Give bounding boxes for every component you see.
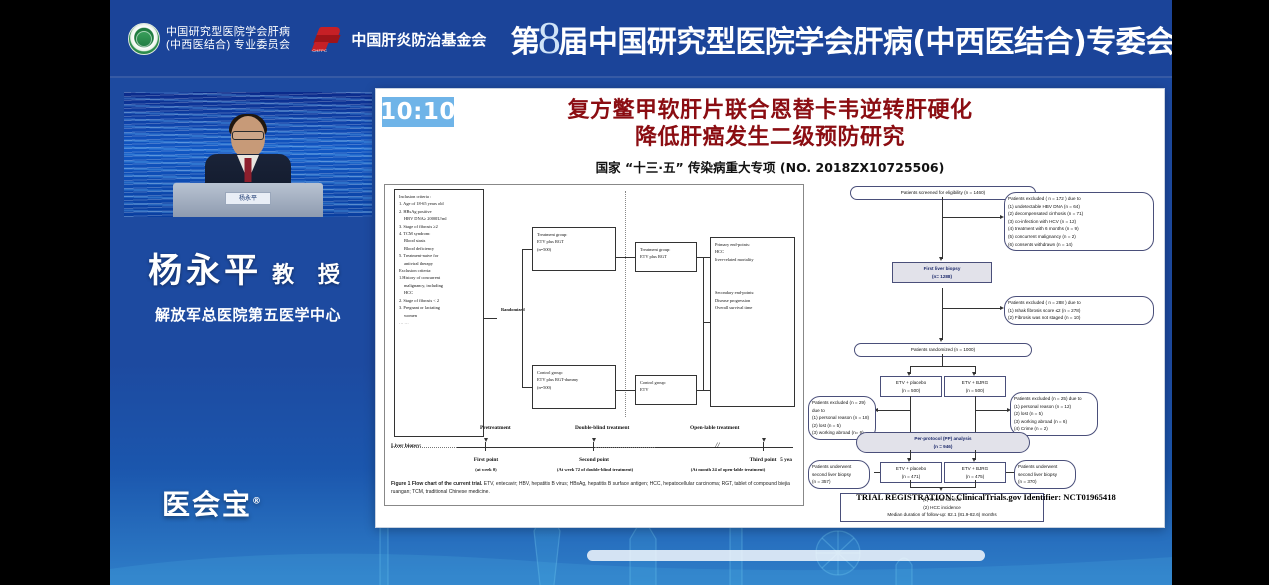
chfpc-abbr: CHFPC (312, 48, 327, 53)
exclusion-item: malignancy, including (399, 282, 479, 289)
consort-biopsy-right: Patients underwent second liver biopsy (… (1014, 460, 1076, 489)
criteria-ellipsis: …… (399, 319, 479, 326)
criteria-box: Inclusion criteria : 1. Age of 18-65 yea… (394, 189, 484, 437)
figure-trial-flowchart: Inclusion criteria : 1. Age of 18-65 yea… (384, 184, 804, 506)
chfpc-flame-icon: CHFPC (312, 26, 346, 52)
figure-consort-diagram: Patients screened for eligibility (n = 1… (814, 184, 1158, 486)
primary-endpoints-heading: Primary end-points: (715, 241, 790, 248)
node-treatment-group-1: Treatment group: ETV plus RGT (n=500) (532, 227, 616, 271)
consort-excluded-1: Patients excluded ( n = 172 ) due to (1)… (1004, 192, 1154, 251)
slide-body: Inclusion criteria : 1. Age of 18-65 yea… (376, 182, 1164, 520)
consort-excluded-2: Patients excluded ( n = 288 ) due to (1)… (1004, 296, 1154, 325)
slide-time-badge: 10:10 (382, 97, 454, 127)
exclusion-heading: Exclusion criteria: (399, 267, 479, 274)
exclusion-item: 1.History of concurrent (399, 274, 479, 281)
phase-divider-line (625, 191, 626, 417)
secondary-endpoints-heading: Secondary end-points: (715, 289, 790, 296)
phase-pretreatment: Pretreatment (480, 425, 511, 431)
inclusion-item: antiviral therapy (399, 260, 479, 267)
podium-nameplate: 杨永平 (225, 192, 271, 205)
org-chrh-text: 中国研究型医院学会肝病 (中西医结合) 专业委员会 (166, 26, 290, 52)
node-control-group-1: Control group: ETV plus RGT-dummy (n=500… (532, 365, 616, 409)
screenshot-stage: 中国研究型医院学会肝病 (中西医结合) 专业委员会 CHFPC 中国肝炎防治基金… (0, 0, 1269, 585)
timeline-point-3-note: (At month 24 of open-lable treatment) (661, 467, 795, 472)
speaker-name: 杨永平 (148, 251, 262, 291)
exclusion-item: HCC (399, 289, 479, 296)
watermark-text: 医会宝 (162, 488, 252, 521)
consort-randomized: Patients randomized (n = 1000) (854, 343, 1032, 357)
glasses-icon (232, 131, 264, 140)
exclusion-item: 2. Stage of fibrosis < 2 (399, 297, 479, 304)
consort-pp-analysis: Per-protocol (PP) analysis (n = 946) (856, 432, 1030, 453)
slide-title-line2: 降低肝癌发生二级预防研究 (446, 124, 1094, 151)
figure-caption-title: Figure 1 Flow chart of the current trial… (391, 481, 482, 487)
speaker-academic-title: 教 授 (272, 262, 348, 288)
presentation-slide[interactable]: 10:10 复方鳖甲软肝片联合恩替卡韦逆转肝硬化 降低肝癌发生二级预防研究 国家… (375, 88, 1165, 528)
letterbox-bar-left (0, 0, 110, 585)
chrh-emblem-icon (128, 23, 160, 55)
letterbox-bar-right (1172, 0, 1269, 585)
platform-watermark: 医会宝® (162, 483, 263, 523)
slide-title-line1: 复方鳖甲软肝片联合恩替卡韦逆转肝硬化 (446, 97, 1094, 124)
consort-arm-bjrg: ETV + BJRG (n = 500) (944, 376, 1006, 397)
inclusion-item: HBV DNA≥ 2000IU/ml (399, 215, 479, 222)
speaker-affiliation: 解放军总医院第五医学中心 (124, 304, 372, 325)
node-endpoints: Primary end-points: HCC liver-related mo… (710, 237, 795, 407)
phase-open-label: Open-lable treatment (690, 425, 739, 431)
org-logo-chrh: 中国研究型医院学会肝病 (中西医结合) 专业委员会 (128, 23, 290, 55)
node-treatment-group-2: Treatment group: ETV plus RGT (635, 242, 697, 272)
node-randomized: Randomized (497, 303, 529, 316)
speaker-name-row: 杨永平教 授 (124, 243, 372, 292)
inclusion-item: Blood deficiency (399, 245, 479, 252)
slide-subtitle: 国家 “十三·五” 传染病重大专项 (NO. 2018ZX10725506) (386, 157, 1154, 176)
org-chfpc-name: 中国肝炎防治基金会 (351, 29, 486, 50)
node-control-group-2: Control group: ETV (635, 375, 697, 405)
consort-arm-placebo: ETV + placebo (n = 500) (880, 376, 942, 397)
inclusion-item: 4. TCM syndrom: (399, 230, 479, 237)
secondary-endpoints: Disease progression Overall survival tim… (715, 297, 790, 312)
slide-header: 10:10 复方鳖甲软肝片联合恩替卡韦逆转肝硬化 降低肝癌发生二级预防研究 国家… (376, 89, 1164, 178)
slide-title: 复方鳖甲软肝片联合恩替卡韦逆转肝硬化 降低肝癌发生二级预防研究 (386, 97, 1154, 151)
primary-endpoints: HCC liver-related mortality (715, 248, 790, 263)
org-chrh-line1: 中国研究型医院学会肝病 (166, 26, 290, 39)
inclusion-heading: Inclusion criteria : (399, 193, 479, 200)
conference-title-prefix: 第 (510, 17, 540, 61)
timeline-point-1: First point (457, 457, 515, 463)
inclusion-item: 2. HBsAg positive (399, 208, 479, 215)
video-progress-bar[interactable] (587, 550, 985, 561)
speaker-panel: 杨永平 杨永平教 授 解放军总医院第五医学中心 (124, 92, 372, 325)
conference-edition-number: 8 (538, 23, 561, 53)
timeline-point-2-note: (At week 72 of double-blind treatment) (533, 467, 657, 472)
consort-excluded-right: Patients excluded (n = 25) due to (1) pe… (1010, 392, 1098, 436)
consort-biopsy-left: Patients underwent second liver biopsy (… (808, 460, 870, 489)
exclusion-item: women (399, 312, 479, 319)
video-player-area[interactable]: 中国研究型医院学会肝病 (中西医结合) 专业委员会 CHFPC 中国肝炎防治基金… (110, 0, 1172, 585)
conference-title-suffix: 届中国研究型医院学会肝病(中西医结合)专委会学术会议 (558, 17, 1172, 61)
inclusion-item: Blood stasis (399, 237, 479, 244)
timeline-label: Liver biopsy: (391, 443, 422, 449)
exclusion-item: 3. Pregnant or lactating (399, 304, 479, 311)
phase-double-blind: Double-blind treatment (575, 425, 629, 431)
consort-first-liver-biopsy: First liver biopsy (n= 1288) (892, 262, 992, 283)
trial-registration: TRIAL REGISTRATION: ClinicalTrials.gov I… (814, 492, 1158, 502)
inclusion-item: 3. Stage of fibrosis ≥2 (399, 223, 479, 230)
watermark-registered-mark: ® (252, 497, 263, 507)
timeline-point-4: 5 yea (771, 457, 801, 463)
consort-final-placebo: ETV + placebo (n = 471) (880, 462, 942, 483)
conference-title: 第8届中国研究型医院学会肝病(中西医结合)专委会学术会议 (510, 17, 1172, 61)
speaker-photo: 杨永平 (124, 92, 372, 217)
org-logo-chfpc: CHFPC 中国肝炎防治基金会 (312, 26, 486, 52)
conference-header-band: 中国研究型医院学会肝病 (中西医结合) 专业委员会 CHFPC 中国肝炎防治基金… (110, 0, 1172, 78)
inclusion-item: 5. Treatment-naive for (399, 252, 479, 259)
timeline-point-2: Second point (563, 457, 625, 463)
figure-caption: Figure 1 Flow chart of the current trial… (391, 481, 799, 496)
org-chrh-line2: (中西医结合) 专业委员会 (166, 39, 290, 52)
inclusion-item: 1. Age of 18-65 years old (399, 200, 479, 207)
timeline-point-1-note: (at week 0) (457, 467, 515, 472)
